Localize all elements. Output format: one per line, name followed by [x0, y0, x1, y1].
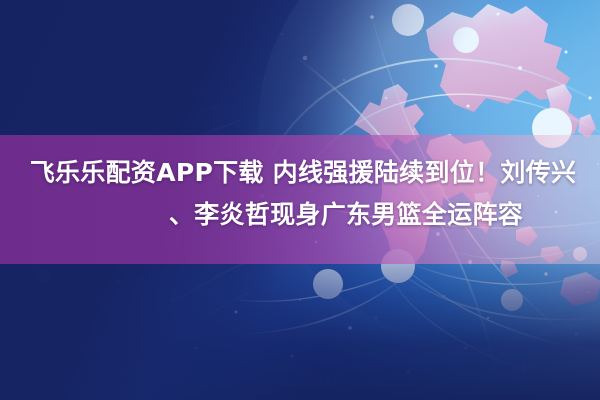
headline-line-2: 、李炎哲现身广东男篮全运阵容	[0, 194, 600, 236]
page-title: 飞乐乐配资APP下载 内线强援陆续到位！刘传兴 、李炎哲现身广东男篮全运阵容	[0, 152, 600, 236]
headline-line-1: 飞乐乐配资APP下载 内线强援陆续到位！刘传兴	[0, 152, 600, 194]
article-thumbnail-banner: 飞乐乐配资APP下载 内线强援陆续到位！刘传兴 、李炎哲现身广东男篮全运阵容	[0, 0, 600, 400]
